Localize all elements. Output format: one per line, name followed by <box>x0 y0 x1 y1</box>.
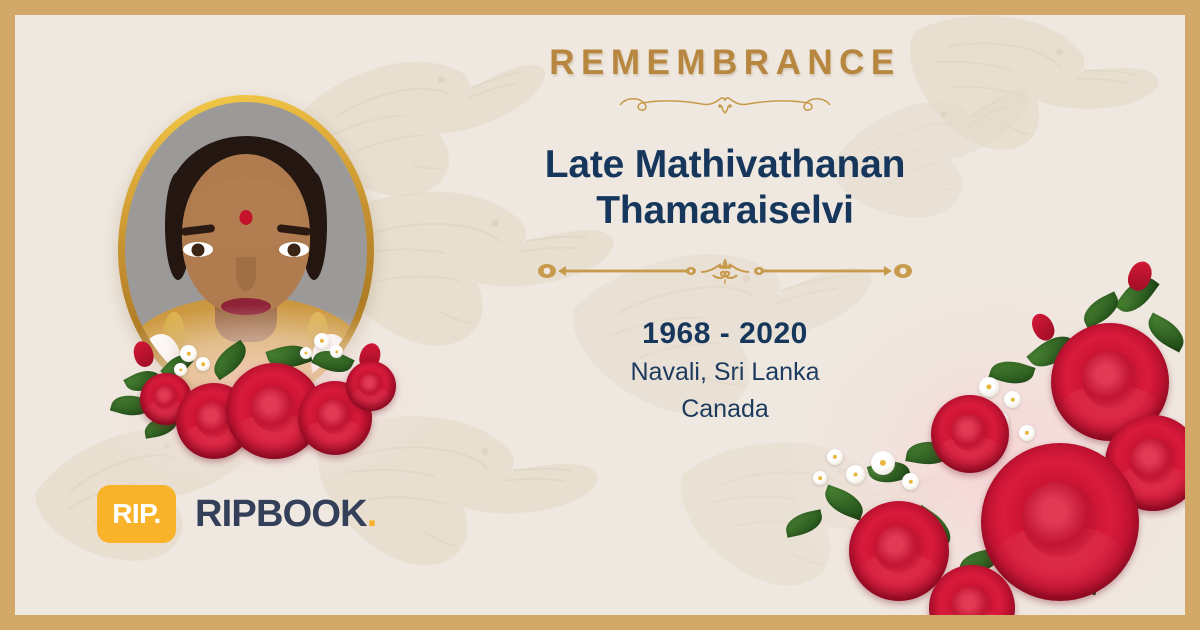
rose-corner-decoration <box>775 265 1185 615</box>
logo-wordmark: RIPBOOK. <box>195 493 377 536</box>
rose <box>981 443 1139 601</box>
memorial-card: REMEMBRANCE Late Mathivathanan Thamarais… <box>0 0 1200 630</box>
leaf <box>820 485 867 521</box>
jasmine-flower <box>827 449 843 465</box>
ripbook-logo[interactable]: RIP. RIPBOOK. <box>97 485 377 543</box>
name-line-2: Thamaraiselvi <box>596 189 854 232</box>
jasmine-flower <box>871 451 895 475</box>
jasmine-flower <box>196 357 210 371</box>
logo-wordmark-dot: . <box>367 493 377 535</box>
page-title: REMEMBRANCE <box>445 43 1005 83</box>
logo-mark: RIP. <box>97 485 176 543</box>
deceased-name: Late Mathivathanan Thamaraiselvi <box>445 142 1005 234</box>
jasmine-flower <box>813 471 827 485</box>
jasmine-flower <box>314 333 330 349</box>
jasmine-flower <box>180 345 197 362</box>
jasmine-flower <box>979 377 999 397</box>
jasmine-flower <box>902 473 919 490</box>
jasmine-flower <box>330 345 343 358</box>
logo-mark-text: RIP. <box>112 498 160 530</box>
rose <box>931 395 1009 473</box>
name-line-1: Late Mathivathanan <box>545 143 905 186</box>
card-canvas: REMEMBRANCE Late Mathivathanan Thamarais… <box>15 15 1185 615</box>
jasmine-flower <box>846 465 865 484</box>
leaf <box>783 509 825 537</box>
jasmine-flower <box>1004 391 1021 408</box>
portrait-block <box>118 95 388 425</box>
bindi <box>240 210 253 225</box>
flourish-ornament-icon <box>610 92 840 114</box>
jasmine-flower <box>300 347 312 359</box>
jasmine-flower <box>1019 425 1035 441</box>
rose <box>346 361 396 411</box>
logo-wordmark-text: RIPBOOK <box>195 493 367 535</box>
